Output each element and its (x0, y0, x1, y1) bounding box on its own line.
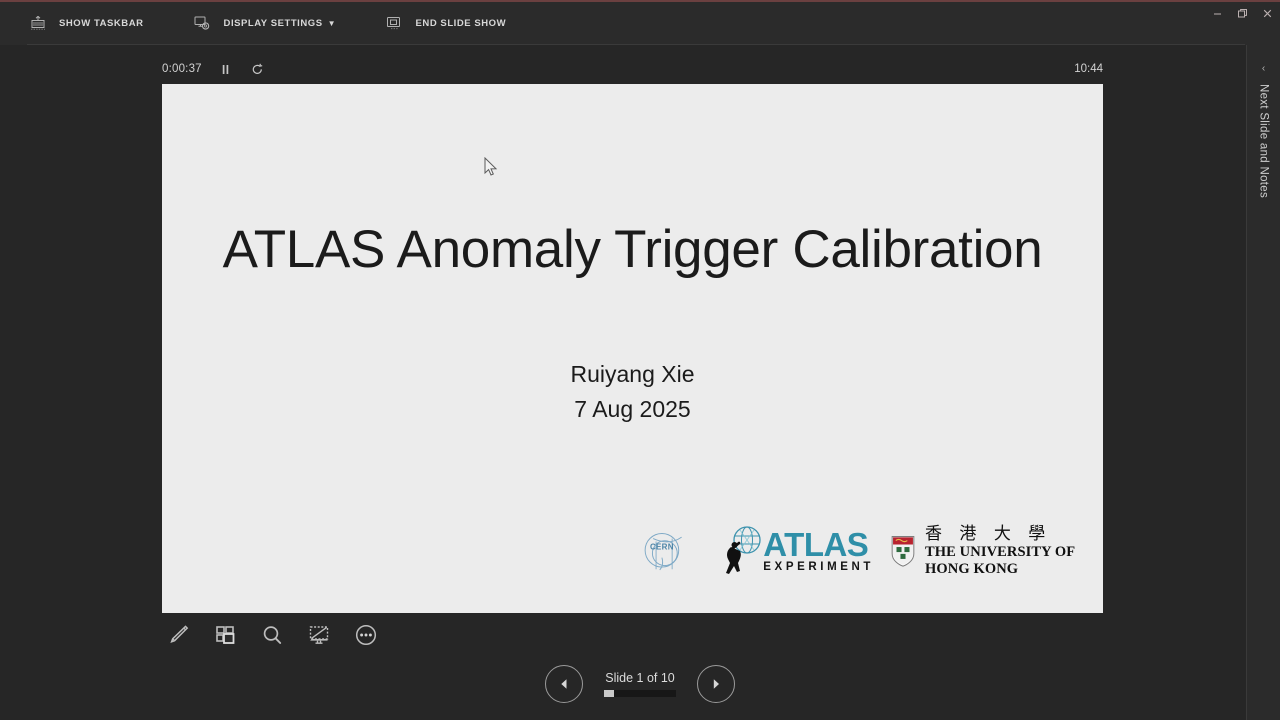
chevron-down-icon: ▼ (328, 19, 336, 28)
end-slide-show-button[interactable]: END SLIDE SHOW (384, 8, 517, 40)
slide-counter: Slide 1 of 10 (605, 671, 675, 685)
slide-tools (160, 617, 395, 653)
slide-progress-bar[interactable] (604, 690, 676, 697)
hku-logo: 香 港 大 學 THE UNIVERSITY OF HONG KONG (890, 524, 1103, 578)
hku-wordmark: 香 港 大 學 THE UNIVERSITY OF HONG KONG (925, 524, 1103, 578)
slide-navigation: Slide 1 of 10 (0, 665, 1280, 703)
next-slide-button[interactable] (697, 665, 735, 703)
toolbar-divider (27, 44, 1245, 45)
cern-logo: CERN (640, 520, 685, 582)
black-screen-icon[interactable] (301, 617, 337, 653)
hku-crest-icon (890, 529, 916, 573)
reset-timer-button[interactable] (250, 61, 266, 77)
hku-wordmark-english: THE UNIVERSITY OF HONG KONG (925, 544, 1103, 578)
timer-row: 0:00:37 10:44 (162, 58, 1103, 80)
zoom-icon[interactable] (254, 617, 290, 653)
svg-text:CERN: CERN (650, 543, 674, 552)
restore-icon[interactable] (1230, 2, 1255, 24)
window-controls (1205, 2, 1280, 24)
display-settings-button[interactable]: DISPLAY SETTINGS ▼ (192, 8, 346, 40)
close-icon[interactable] (1255, 2, 1280, 24)
next-slide-and-notes-label: Next Slide and Notes (1258, 84, 1270, 198)
slide-counter-group: Slide 1 of 10 (599, 671, 681, 697)
next-slide-and-notes-panel[interactable]: ‹ Next Slide and Notes (1246, 45, 1280, 720)
slide-progress-fill (604, 690, 614, 697)
atlas-wordmark-main: ATLAS (763, 530, 874, 560)
show-taskbar-button[interactable]: SHOW TASKBAR (27, 8, 154, 40)
presenter-toolbar: SHOW TASKBAR DISPLAY SETTINGS ▼ (0, 2, 1280, 45)
more-options-icon[interactable] (348, 617, 384, 653)
slide-date: 7 Aug 2025 (162, 396, 1103, 423)
slide-author: Ruiyang Xie (162, 361, 1103, 388)
current-slide[interactable]: ATLAS Anomaly Trigger Calibration Ruiyan… (162, 84, 1103, 613)
pen-icon[interactable] (160, 617, 196, 653)
pause-timer-button[interactable] (218, 61, 234, 77)
chevron-left-icon[interactable]: ‹ (1262, 63, 1265, 74)
all-slides-icon[interactable] (207, 617, 243, 653)
show-taskbar-label: SHOW TASKBAR (59, 18, 144, 29)
logo-row: CERN ATLAS EXPERIMENT (640, 520, 1103, 582)
atlas-logo: ATLAS EXPERIMENT (721, 525, 874, 577)
atlas-wordmark: ATLAS EXPERIMENT (763, 530, 874, 573)
hku-wordmark-chinese: 香 港 大 學 (925, 524, 1103, 544)
atlas-wordmark-sub: EXPERIMENT (763, 561, 874, 573)
end-slide-show-icon (384, 14, 406, 34)
minimize-icon[interactable] (1205, 2, 1230, 24)
display-settings-icon (192, 14, 214, 34)
presenter-view-window: SHOW TASKBAR DISPLAY SETTINGS ▼ (0, 0, 1280, 720)
previous-slide-button[interactable] (545, 665, 583, 703)
wall-clock: 10:44 (1074, 63, 1103, 75)
end-slide-show-label: END SLIDE SHOW (416, 18, 507, 29)
taskbar-icon (27, 14, 49, 34)
slide-title: ATLAS Anomaly Trigger Calibration (162, 218, 1103, 281)
elapsed-timer: 0:00:37 (162, 63, 202, 75)
atlas-globe-icon (721, 525, 765, 577)
display-settings-label: DISPLAY SETTINGS (224, 18, 323, 29)
